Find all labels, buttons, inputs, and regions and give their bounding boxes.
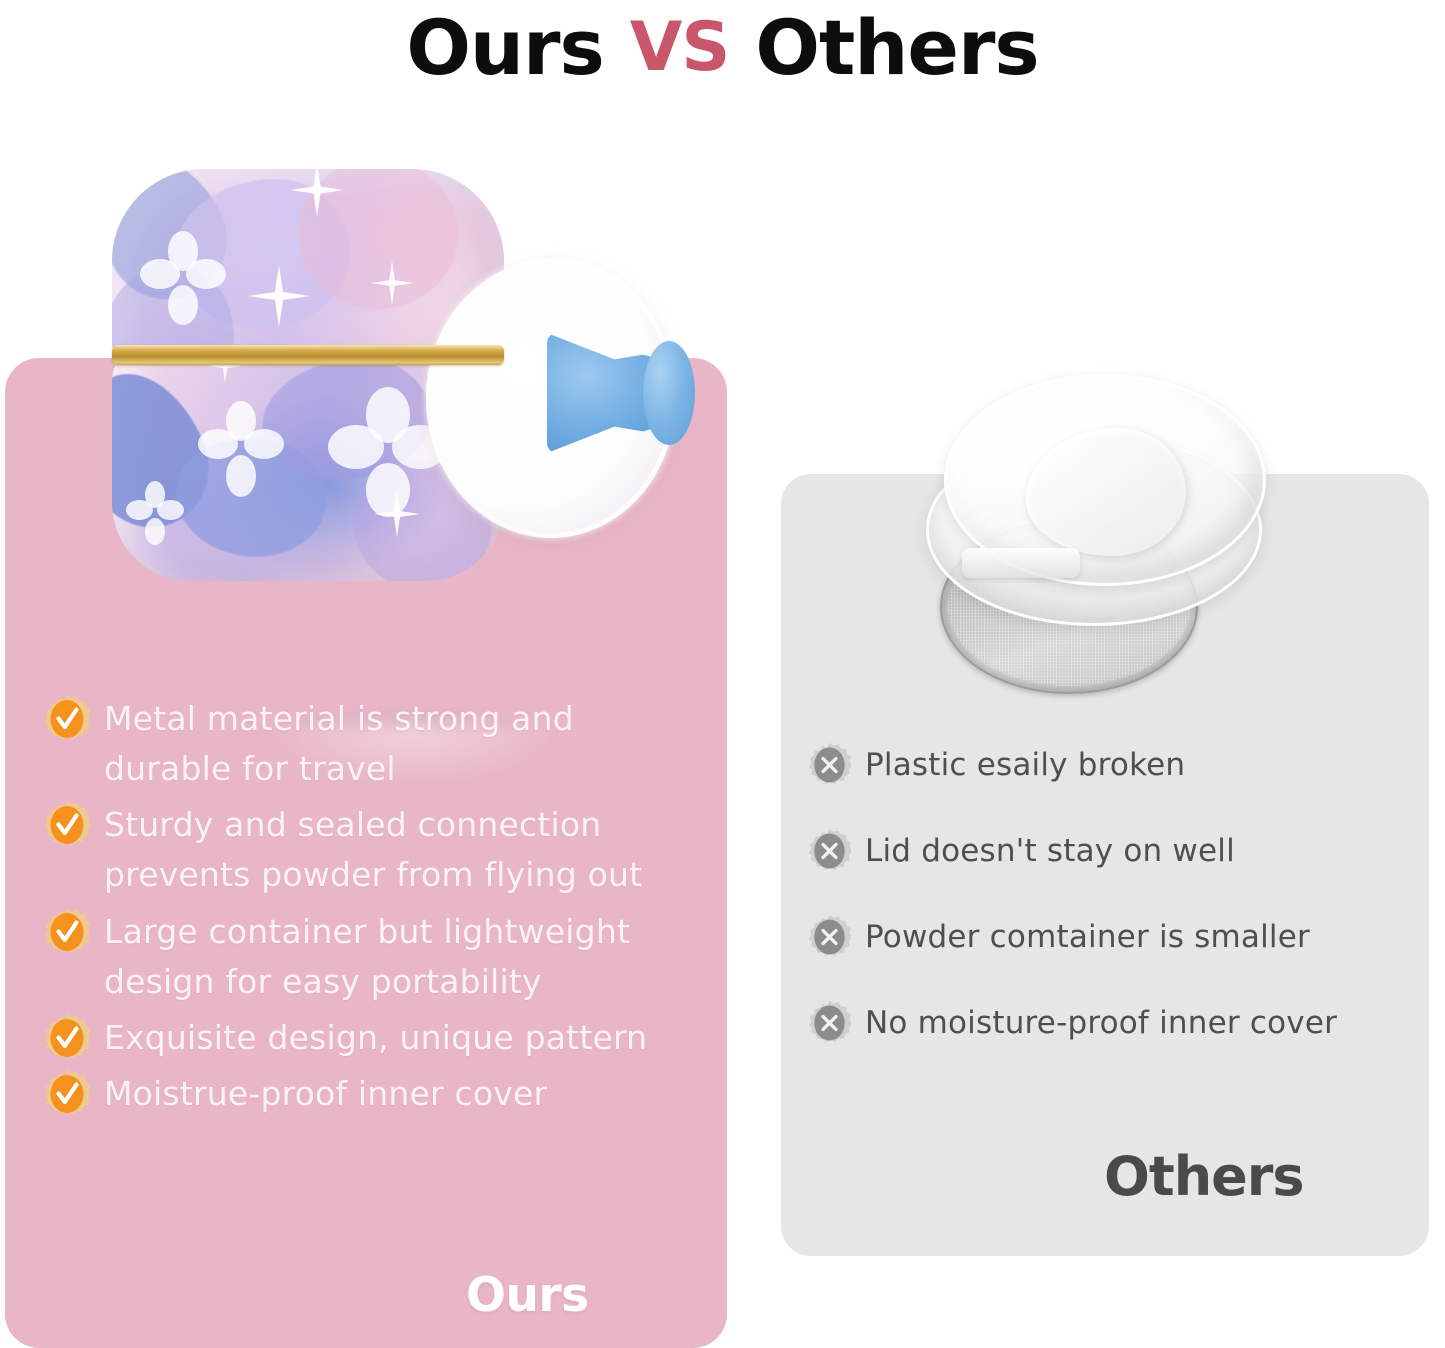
cross-badge-icon	[808, 742, 851, 788]
flower-glyph	[140, 231, 226, 325]
check-badge-icon	[44, 1013, 90, 1063]
cross-badge-icon	[808, 1000, 851, 1046]
page-title: Ours VS Others	[0, 2, 1445, 94]
check-badge-icon	[44, 907, 90, 957]
list-item-label: Sturdy and sealed connection prevents po…	[104, 800, 704, 900]
list-item: Exquisite design, unique pattern	[44, 1013, 704, 1063]
petal-shape	[298, 169, 458, 309]
check-badge-icon	[44, 800, 90, 850]
list-item: Large container but lightweight design f…	[44, 907, 704, 1007]
list-item: Lid doesn't stay on well	[808, 828, 1428, 874]
puff-knob	[643, 341, 695, 445]
list-item: Moistrue-proof inner cover	[44, 1069, 704, 1119]
flower-glyph	[126, 481, 184, 545]
list-item-label: Exquisite design, unique pattern	[104, 1013, 647, 1063]
list-item: Plastic esaily broken	[808, 742, 1428, 788]
check-badge-icon	[44, 1069, 90, 1119]
others-brand-label: Others	[1104, 1145, 1304, 1208]
flower-glyph	[198, 401, 284, 497]
others-drawback-list: Plastic esaily broken Lid doesn't stay o…	[808, 742, 1428, 1086]
ours-feature-list: Metal material is strong and durable for…	[44, 694, 704, 1125]
title-ours: Ours	[406, 10, 603, 86]
others-product-image	[916, 372, 1296, 692]
ours-brand-label: Ours	[466, 1268, 589, 1323]
list-item-label: Large container but lightweight design f…	[104, 907, 704, 1007]
jar-gold-band	[112, 345, 504, 365]
list-item-label: No moisture-proof inner cover	[865, 1003, 1337, 1043]
list-item-label: Plastic esaily broken	[865, 745, 1185, 785]
title-vs: VS	[630, 14, 730, 82]
title-others: Others	[755, 10, 1038, 86]
list-item-label: Moistrue-proof inner cover	[104, 1069, 547, 1119]
ours-product-image	[95, 145, 715, 625]
list-item: No moisture-proof inner cover	[808, 1000, 1428, 1046]
check-badge-icon	[44, 694, 90, 744]
list-item-label: Powder comtainer is smaller	[865, 917, 1310, 957]
list-item: Sturdy and sealed connection prevents po…	[44, 800, 704, 900]
list-item-label: Lid doesn't stay on well	[865, 831, 1235, 871]
list-item-label: Metal material is strong and durable for…	[104, 694, 704, 794]
lid-tab	[962, 548, 1080, 578]
cross-badge-icon	[808, 828, 851, 874]
cross-badge-icon	[808, 914, 851, 960]
list-item: Metal material is strong and durable for…	[44, 694, 704, 794]
list-item: Powder comtainer is smaller	[808, 914, 1428, 960]
